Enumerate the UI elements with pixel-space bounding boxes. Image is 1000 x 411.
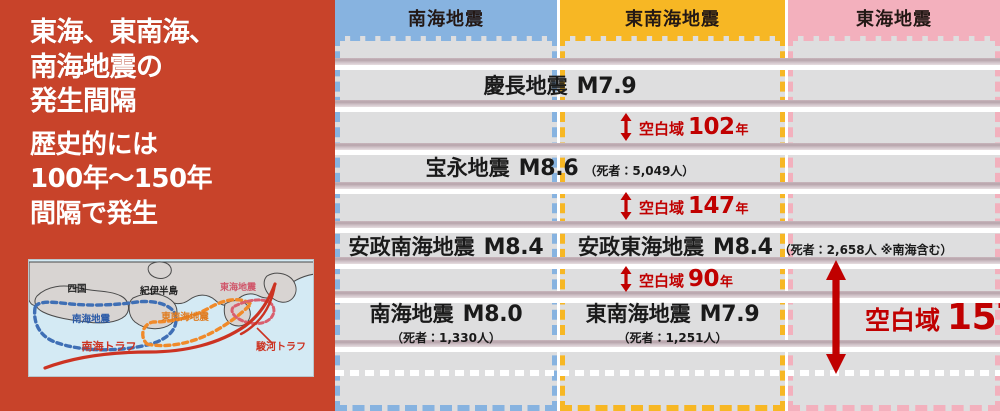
event-ansei-nankai-1854[interactable]: 安政南海地震 M8.4 [335, 231, 557, 259]
gap-annotation-147: 空白域147年 [619, 191, 749, 221]
event-name: 安政南海地震 [349, 231, 475, 261]
row-separator-2 [335, 100, 1000, 107]
map-label-tokai-jishin: 東海地震 [220, 281, 257, 293]
row-separator-5 [335, 221, 1000, 228]
event-deaths: （死者：1,330人） [391, 329, 501, 346]
event-name: 安政東海地震 [578, 231, 704, 261]
event-headline-row: 東南海地震 M7.9 [586, 298, 760, 328]
gap-text-147: 空白域147年 [639, 193, 749, 219]
double-arrow-icon [619, 265, 633, 293]
event-name: 宝永地震 [426, 152, 510, 182]
timeline-chart: 南海地震 東南海地震 東海地震 慶長地震 M7.9 [335, 0, 1000, 411]
event-hoei-1707[interactable]: 宝永地震 M8.6 （死者：5,049人） [335, 152, 785, 182]
column-header-nankai[interactable]: 南海地震 [335, 0, 557, 36]
map-label-nankai-trough: 南海トラフ [82, 339, 137, 353]
double-arrow-icon [619, 112, 633, 142]
gap-text-102: 空白域102年 [639, 114, 749, 140]
map-label-tonankai-jishin: 東南海地震 [160, 311, 209, 323]
event-magnitude: M8.6 [519, 156, 579, 181]
event-magnitude: M8.4 [713, 235, 773, 260]
map-inset: 四国 紀伊半島 南海地震 東南海地震 東海地震 南海トラフ 駿河トラフ [28, 259, 314, 377]
event-magnitude: M7.9 [700, 302, 760, 327]
region-map-svg: 四国 紀伊半島 南海地震 東南海地震 東海地震 南海トラフ 駿河トラフ [29, 260, 314, 377]
gap-annotation-90: 空白域90年 [619, 265, 733, 293]
event-headline-row: 南海地震 M8.0 [370, 298, 523, 328]
map-label-nankai-jishin: 南海地震 [72, 313, 111, 325]
page-title: 東海、東南海、 南海地震の 発生間隔 [30, 16, 320, 120]
map-label-suruga-trough: 駿河トラフ [256, 340, 306, 353]
gap-annotation-157: 空白域157年 [823, 258, 1000, 376]
row-separator-4 [335, 182, 1000, 189]
event-name: 東南海地震 [586, 298, 691, 328]
event-deaths: （死者：2,658人 ※南海含む） [779, 241, 953, 258]
gap-text-157: 空白域157年 [865, 297, 1000, 338]
gap-annotation-102: 空白域102年 [619, 112, 749, 142]
infographic-root: 東海、東南海、 南海地震の 発生間隔 歴史的には 100年～150年 間隔で発生 [0, 0, 1000, 411]
event-deaths: （死者：5,049人） [584, 162, 694, 179]
column-header-tonankai[interactable]: 東南海地震 [560, 0, 785, 36]
row-separator-3 [335, 143, 1000, 150]
event-name: 南海地震 [370, 298, 454, 328]
event-name: 慶長地震 [484, 70, 568, 100]
double-arrow-icon [823, 258, 849, 376]
row-separator-1 [335, 58, 1000, 65]
event-magnitude: M7.9 [577, 74, 637, 99]
event-magnitude: M8.0 [463, 302, 523, 327]
page-subtitle: 歴史的には 100年～150年 間隔で発生 [30, 128, 320, 231]
double-arrow-icon [619, 191, 633, 221]
column-header-tokai[interactable]: 東海地震 [788, 0, 1000, 36]
event-tonankai-1944[interactable]: 東南海地震 M7.9 （死者：1,251人） [560, 303, 785, 341]
event-ansei-tokai-1854[interactable]: 安政東海地震 M8.4 （死者：2,658人 ※南海含む） [560, 231, 1000, 259]
gap-text-90: 空白域90年 [639, 266, 733, 292]
event-deaths: （死者：1,251人） [618, 329, 728, 346]
map-label-shikoku: 四国 [67, 284, 86, 295]
map-label-kii: 紀伊半島 [139, 285, 179, 297]
event-keicho-1605[interactable]: 慶長地震 M7.9 [335, 70, 785, 100]
event-magnitude: M8.4 [484, 235, 544, 260]
event-nankai-1946[interactable]: 南海地震 M8.0 （死者：1,330人） [335, 303, 557, 341]
